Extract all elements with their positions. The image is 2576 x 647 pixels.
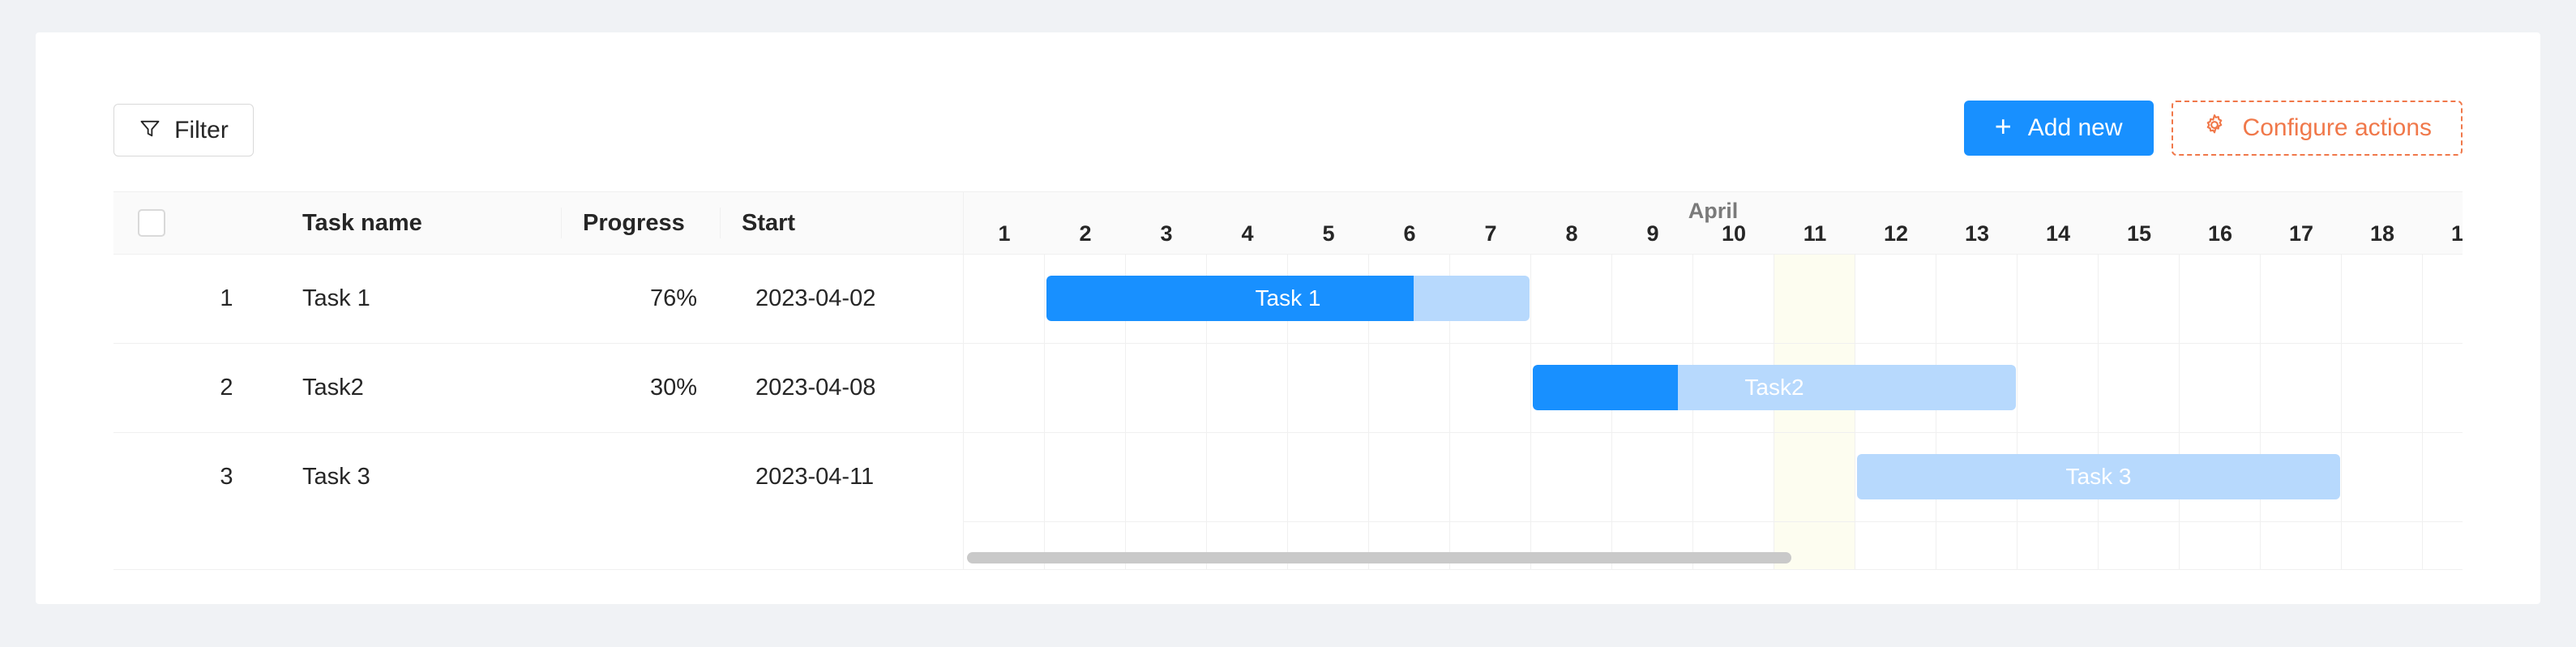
select-all-checkbox[interactable] xyxy=(138,209,165,237)
row-progress: 30% xyxy=(561,375,720,401)
gantt-bar-label: Task2 xyxy=(1744,375,1804,401)
timeline-day-9: 9 xyxy=(1612,221,1693,254)
timeline-row-divider xyxy=(964,521,2463,522)
gantt-bar[interactable]: Task 1 xyxy=(1046,276,1530,321)
table-row[interactable]: 1 Task 1 76% 2023-04-02 xyxy=(113,254,963,343)
timeline-day-3: 3 xyxy=(1126,221,1207,254)
timeline-day-12: 12 xyxy=(1855,221,1936,254)
configure-actions-label: Configure actions xyxy=(2243,114,2432,142)
gantt-grid: Task name Progress Start 1 Task 1 76% 20… xyxy=(113,191,2463,569)
gantt-bar-label: Task 3 xyxy=(2066,464,2132,490)
timeline-day-13: 13 xyxy=(1936,221,2018,254)
row-start: 2023-04-02 xyxy=(720,285,963,312)
gear-icon xyxy=(2202,113,2227,144)
timeline-row-divider xyxy=(964,254,2463,255)
row-task-name: Task 3 xyxy=(264,464,561,491)
gantt-bar-progress-fill xyxy=(1533,365,1678,410)
gantt-bar[interactable]: Task2 xyxy=(1533,365,2016,410)
timeline-row-divider xyxy=(964,432,2463,433)
row-index: 2 xyxy=(189,375,264,401)
timeline-row-divider xyxy=(964,343,2463,344)
timeline-day-15: 15 xyxy=(2099,221,2180,254)
timeline-body: Task 1Task2Task 3 xyxy=(964,254,2463,569)
row-task-name: Task2 xyxy=(264,375,561,401)
table-row[interactable]: 3 Task 3 2023-04-11 xyxy=(113,432,963,521)
gantt-bar-progress-fill xyxy=(1046,276,1414,321)
timeline-day-6: 6 xyxy=(1369,221,1450,254)
horizontal-scrollbar[interactable] xyxy=(967,552,1791,563)
timeline-day-18: 18 xyxy=(2342,221,2423,254)
header-task-name: Task name xyxy=(264,210,561,237)
timeline-day-10: 10 xyxy=(1693,221,1774,254)
row-task-name: Task 1 xyxy=(264,285,561,312)
table-header-row: Task name Progress Start xyxy=(113,192,963,254)
toolbar: Filter + Add new Configure actions xyxy=(36,32,2540,131)
timeline: April 12345678910111213141516171819 Task… xyxy=(964,192,2463,569)
row-start: 2023-04-08 xyxy=(720,375,963,401)
timeline-day-7: 7 xyxy=(1450,221,1531,254)
row-progress: 76% xyxy=(561,285,720,312)
gantt-bar-label: Task 1 xyxy=(1256,285,1321,311)
timeline-day-scale: 12345678910111213141516171819 xyxy=(964,221,2463,254)
timeline-day-1: 1 xyxy=(964,221,1045,254)
plus-icon: + xyxy=(1995,112,2012,141)
row-start: 2023-04-11 xyxy=(720,464,963,491)
timeline-day-4: 4 xyxy=(1207,221,1288,254)
timeline-day-17: 17 xyxy=(2261,221,2342,254)
timeline-day-11: 11 xyxy=(1774,221,1855,254)
add-new-button[interactable]: + Add new xyxy=(1964,101,2154,156)
funnel-icon xyxy=(139,117,161,144)
configure-actions-button[interactable]: Configure actions xyxy=(2172,101,2463,156)
filter-label: Filter xyxy=(174,117,229,144)
timeline-day-19: 19 xyxy=(2423,221,2463,254)
header-start: Start xyxy=(720,208,963,238)
task-table: Task name Progress Start 1 Task 1 76% 20… xyxy=(113,192,964,569)
timeline-day-14: 14 xyxy=(2018,221,2099,254)
gantt-panel: Filter + Add new Configure actions xyxy=(36,32,2540,604)
gantt-bar[interactable]: Task 3 xyxy=(1857,454,2340,499)
timeline-header: April 12345678910111213141516171819 xyxy=(964,192,2463,254)
filter-button[interactable]: Filter xyxy=(113,104,254,156)
row-index: 3 xyxy=(189,464,264,491)
timeline-day-5: 5 xyxy=(1288,221,1369,254)
select-all-cell xyxy=(113,209,189,237)
timeline-day-16: 16 xyxy=(2180,221,2261,254)
toolbar-right-actions: + Add new Configure actions xyxy=(1964,101,2463,156)
timeline-day-8: 8 xyxy=(1531,221,1612,254)
table-row[interactable]: 2 Task2 30% 2023-04-08 xyxy=(113,343,963,432)
table-bottom-divider xyxy=(113,569,2463,570)
row-index: 1 xyxy=(189,285,264,312)
add-new-label: Add new xyxy=(2028,114,2123,142)
header-progress: Progress xyxy=(561,208,720,238)
timeline-month-label: April xyxy=(964,199,2463,224)
timeline-day-2: 2 xyxy=(1045,221,1126,254)
